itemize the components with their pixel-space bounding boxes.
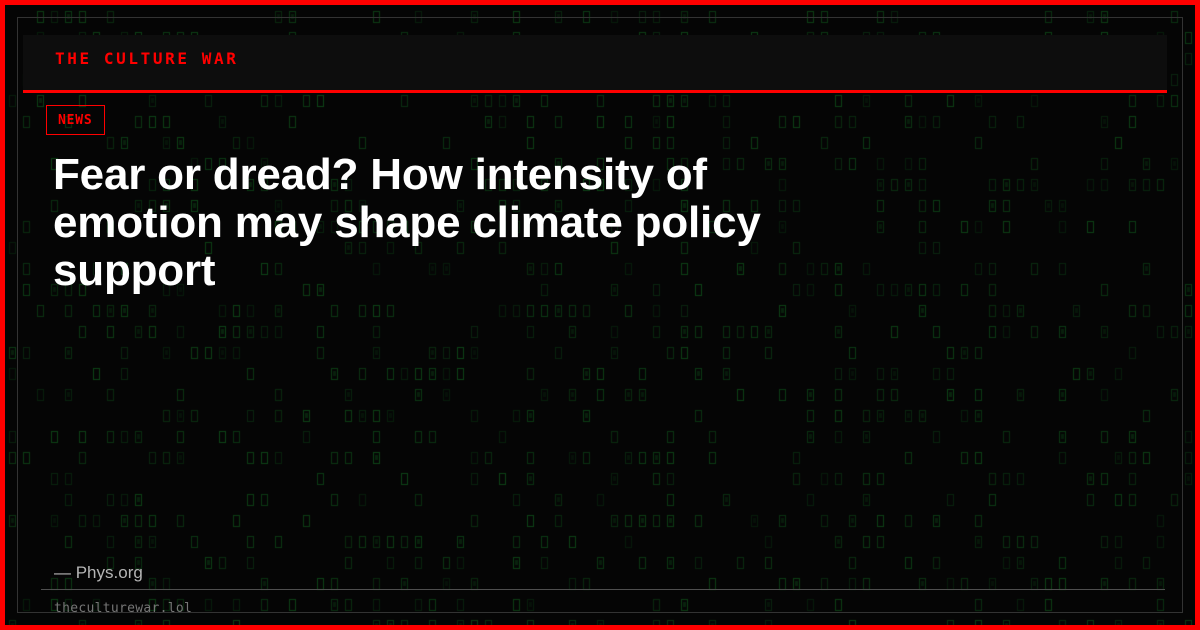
footer-divider (41, 589, 1165, 590)
brand-bar: THE CULTURE WAR (23, 35, 1167, 90)
brand-title: THE CULTURE WAR (55, 49, 239, 68)
social-share-card: THE CULTURE WAR NEWS Fear or dread? How … (0, 0, 1200, 630)
page-title: Fear or dread? How intensity of emotion … (53, 151, 813, 295)
status-badge-label: NEWS (58, 114, 93, 127)
card-content: THE CULTURE WAR NEWS Fear or dread? How … (5, 5, 1200, 630)
status-badge: NEWS (46, 105, 105, 135)
brand-divider (23, 90, 1167, 93)
source-attribution: — Phys.org (54, 563, 143, 583)
site-url: theculturewar.lol (54, 601, 192, 616)
